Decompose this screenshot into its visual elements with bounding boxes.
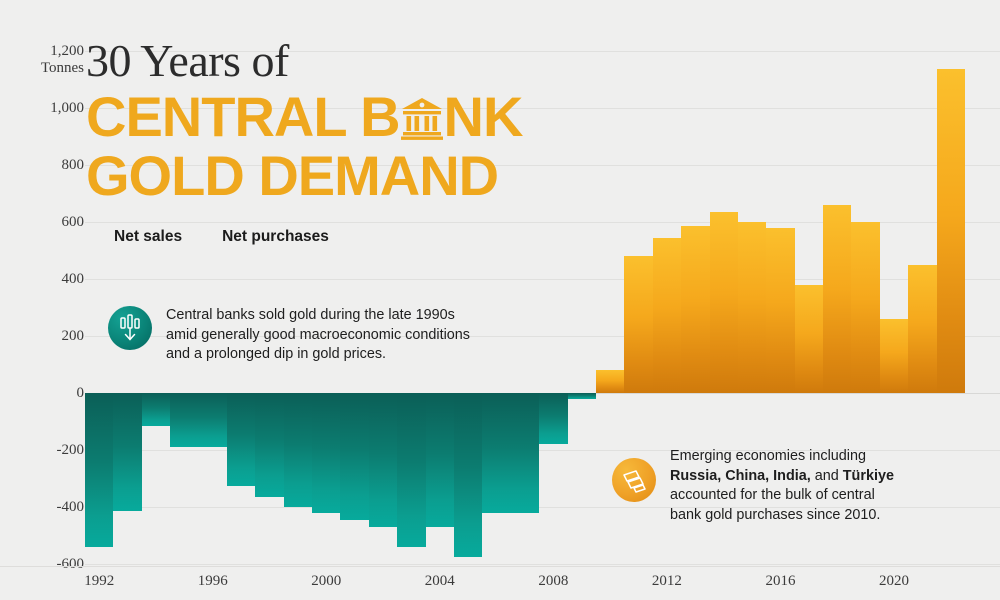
x-axis-tick-2008: 2008 [513, 573, 593, 590]
x-axis-tick-2020: 2020 [854, 573, 934, 590]
gold-bars-icon [612, 458, 656, 502]
x-axis-tick-1992: 1992 [59, 573, 139, 590]
title-line-2-after: NK [444, 85, 523, 148]
bar-2003 [397, 393, 425, 547]
legend-item-net-purchases: Net purchases [196, 228, 329, 246]
bar-1996 [199, 393, 227, 447]
x-axis-tick-2000: 2000 [286, 573, 366, 590]
title-line-2-before: CENTRAL B [86, 85, 400, 148]
callout-2-line-3: accounted for the bulk of central [670, 487, 875, 503]
callout-2-countries-b: Türkiye [843, 468, 894, 484]
teal-square-swatch [88, 229, 105, 246]
chart-legend: Net sales Net purchases [88, 228, 329, 246]
title-line-3: GOLD DEMAND [86, 148, 646, 203]
bar-2015 [738, 222, 766, 393]
bar-2004 [426, 393, 454, 527]
bar-2020 [880, 319, 908, 393]
callout-1-text: Central banks sold gold during the late … [166, 306, 470, 365]
bar-2010 [596, 370, 624, 393]
legend-label-net-sales: Net sales [114, 228, 182, 246]
bar-2021 [908, 265, 936, 393]
callout-2-conjunction: and [811, 468, 843, 484]
x-axis-tick-2012: 2012 [627, 573, 707, 590]
bar-2019 [851, 222, 879, 393]
callout-2-line-1: Emerging economies including [670, 448, 866, 464]
bar-2011 [624, 256, 652, 393]
x-axis-tick-1996: 1996 [173, 573, 253, 590]
bar-1995 [170, 393, 198, 447]
title-block: 30 Years of CENTRAL BNK GOLD DEMAND [86, 36, 646, 203]
bar-2002 [369, 393, 397, 527]
bar-2007 [511, 393, 539, 513]
callout-emerging-economies: Emerging economies includingRussia, Chin… [612, 447, 894, 525]
bank-building-icon [401, 93, 443, 148]
bar-2016 [766, 228, 794, 393]
bar-2013 [681, 226, 709, 393]
callout-2-text: Emerging economies includingRussia, Chin… [670, 447, 894, 525]
x-axis-tick-2016: 2016 [741, 573, 821, 590]
bar-2018 [823, 205, 851, 393]
title-line-1: 30 Years of [86, 36, 646, 86]
bar-1993 [113, 393, 141, 511]
bar-2001 [340, 393, 368, 520]
bar-2009 [568, 393, 596, 399]
bar-1997 [227, 393, 255, 486]
bar-1992 [85, 393, 113, 547]
gold-square-swatch [196, 229, 213, 246]
bar-2006 [482, 393, 510, 513]
infographic-canvas: 1,2001,0008006004002000-200-400-600Tonne… [0, 0, 1000, 600]
bar-2012 [653, 238, 681, 393]
bar-2008 [539, 393, 567, 444]
legend-label-net-purchases: Net purchases [222, 228, 329, 246]
x-axis-line [0, 566, 1000, 567]
bar-2022 [937, 69, 965, 393]
callout-late-1990s-sales: Central banks sold gold during the late … [108, 306, 470, 365]
callout-2-countries-a: Russia, China, India, [670, 468, 811, 484]
falling-gold-price-icon [108, 306, 152, 350]
x-axis-tick-2004: 2004 [400, 573, 480, 590]
bar-2017 [795, 285, 823, 393]
title-line-2: CENTRAL BNK [86, 89, 646, 148]
bar-2014 [710, 212, 738, 393]
bar-1999 [284, 393, 312, 507]
bar-2005 [454, 393, 482, 557]
bar-2000 [312, 393, 340, 513]
bar-1994 [142, 393, 170, 426]
callout-2-line-4: bank gold purchases since 2010. [670, 507, 880, 523]
legend-item-net-sales: Net sales [88, 228, 182, 246]
bar-1998 [255, 393, 283, 497]
